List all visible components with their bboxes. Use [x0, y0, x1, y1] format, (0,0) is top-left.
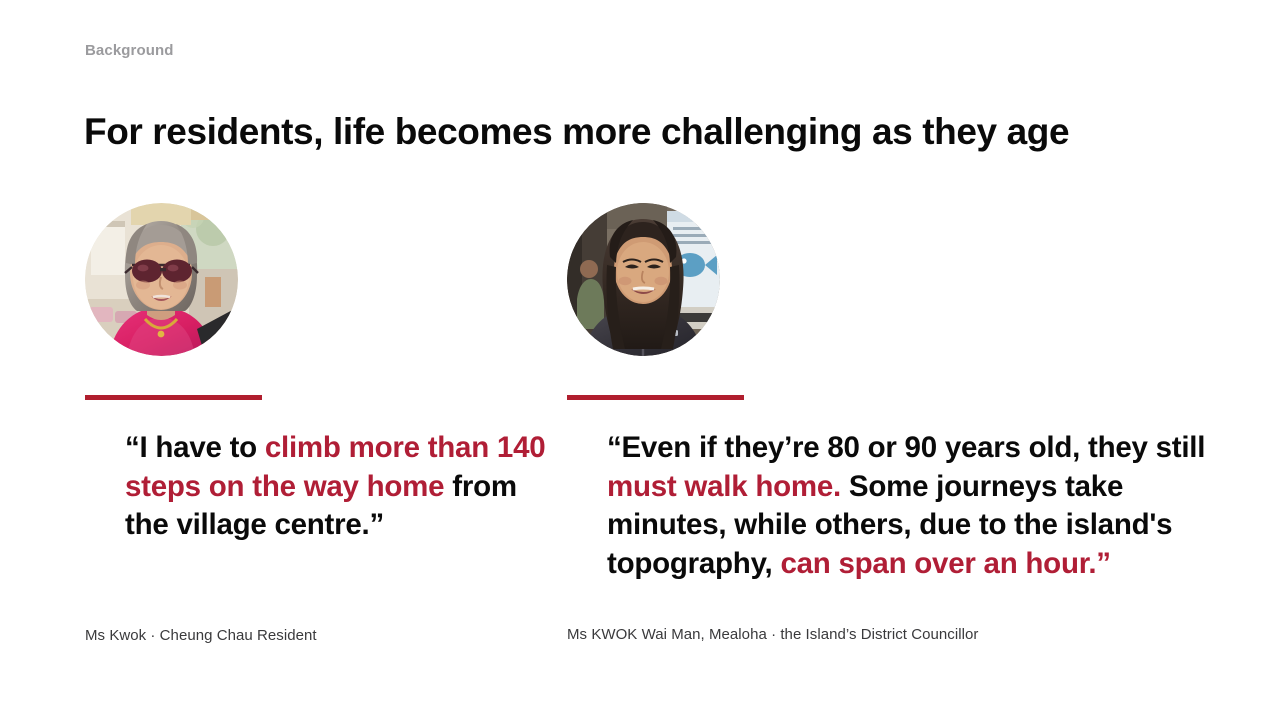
portrait-photo-councillor: [567, 203, 720, 356]
avatar: [567, 203, 720, 356]
quote-attribution: Ms Kwok · Cheung Chau Resident: [85, 626, 515, 646]
quote-block-1: “Even if they’re 80 or 90 years old, the…: [567, 203, 1192, 645]
quote-highlight-span: must walk home.: [607, 470, 841, 503]
quote-attribution: Ms KWOK Wai Man, Mealoha · the Island’s …: [567, 625, 1192, 645]
quote-block-0: “I have to climb more than 140 steps on …: [85, 203, 515, 646]
portrait-photo-resident: [85, 203, 238, 356]
quote-text: “I have to climb more than 140 steps on …: [125, 429, 555, 545]
quote-text: “Even if they’re 80 or 90 years old, the…: [607, 429, 1232, 583]
accent-rule: [85, 395, 262, 400]
page-title: For residents, life becomes more challen…: [84, 111, 1069, 153]
section-eyebrow-label: Background: [85, 42, 174, 59]
accent-rule: [567, 395, 744, 400]
quote-plain-span: “Even if they’re 80 or 90 years old, the…: [607, 431, 1205, 464]
quote-plain-span: “I have to: [125, 431, 265, 464]
avatar: [85, 203, 238, 356]
slide-canvas: Background For residents, life becomes m…: [0, 0, 1280, 720]
quote-highlight-span: can span over an hour.”: [780, 547, 1110, 580]
